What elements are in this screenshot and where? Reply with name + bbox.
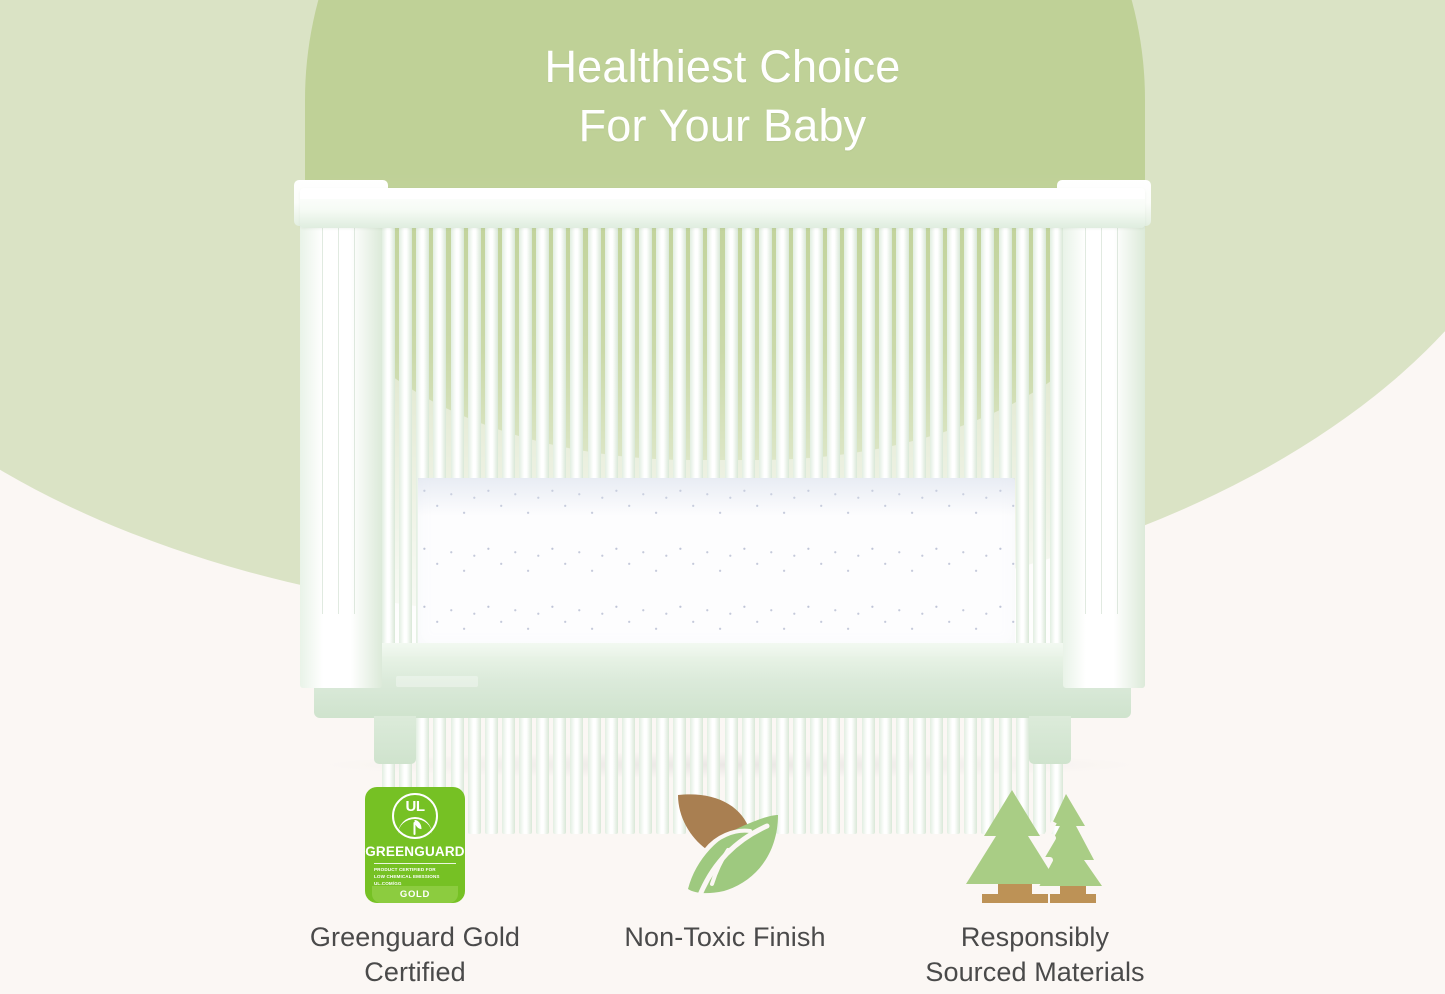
trees-icon-wrap xyxy=(954,782,1116,908)
post-groove xyxy=(338,228,339,614)
feature-label-non-toxic: Non-Toxic Finish xyxy=(624,920,825,955)
two-trees-icon xyxy=(954,786,1116,904)
headline-line-1: Healthiest Choice xyxy=(544,41,900,92)
feature-row: UL GREENGUARD PRODUCT CERTIFIED FOR LOW … xyxy=(260,782,1190,990)
post-groove xyxy=(322,228,323,614)
headline-line-2: For Your Baby xyxy=(0,97,1445,156)
crib-top-rail xyxy=(300,188,1145,228)
crib-post-left xyxy=(300,188,382,688)
post-groove xyxy=(1117,228,1118,614)
post-groove xyxy=(1101,228,1102,614)
feature-label-greenguard: Greenguard Gold Certified xyxy=(310,920,520,990)
greenguard-tier-strip: GOLD xyxy=(372,886,458,903)
greenguard-gold-badge-icon: UL GREENGUARD PRODUCT CERTIFIED FOR LOW … xyxy=(365,787,465,903)
mattress-top-shading xyxy=(418,478,1015,516)
crib-product-image xyxy=(300,188,1145,758)
post-groove xyxy=(1085,228,1086,614)
greenguard-icon-wrap: UL GREENGUARD PRODUCT CERTIFIED FOR LOW … xyxy=(365,782,465,908)
ul-mark-label: UL xyxy=(406,799,425,814)
crib-leg-left xyxy=(374,716,416,764)
greenguard-wordmark: GREENGUARD xyxy=(365,844,465,859)
leaves-icon-wrap xyxy=(666,782,784,908)
post-groove xyxy=(354,228,355,614)
crib-slat xyxy=(1016,224,1029,834)
marketing-infographic: Healthiest Choice For Your Baby xyxy=(0,0,1445,994)
crib-brand-plate xyxy=(396,676,478,687)
crib-post-right xyxy=(1063,188,1145,688)
feature-greenguard: UL GREENGUARD PRODUCT CERTIFIED FOR LOW … xyxy=(260,782,570,990)
crib-mattress xyxy=(418,478,1015,658)
ul-sprout-shape xyxy=(411,820,420,835)
crib-leg-right xyxy=(1029,716,1071,764)
ul-mark-icon: UL xyxy=(392,793,438,839)
crib-base-panel xyxy=(314,656,1131,718)
two-leaves-icon xyxy=(666,789,784,901)
feature-responsibly-sourced: Responsibly Sourced Materials xyxy=(880,782,1190,990)
feature-label-responsibly-sourced: Responsibly Sourced Materials xyxy=(925,920,1144,990)
headline: Healthiest Choice For Your Baby xyxy=(0,38,1445,155)
feature-non-toxic: Non-Toxic Finish xyxy=(570,782,880,990)
